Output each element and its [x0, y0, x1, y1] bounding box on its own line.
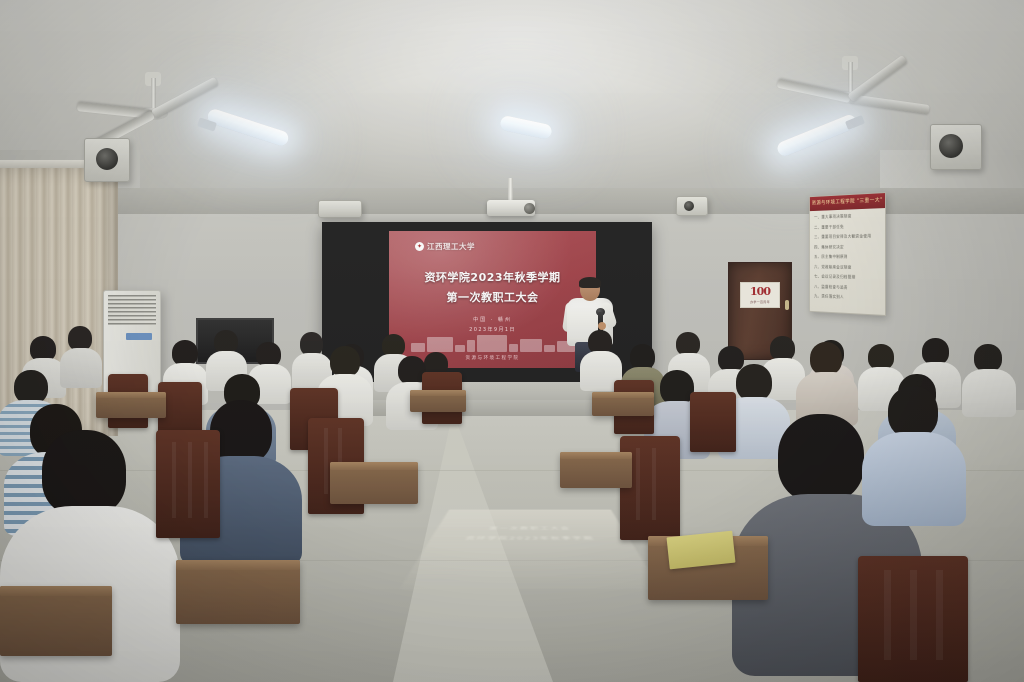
logo-badge-icon: ✦ [415, 242, 424, 251]
speaker-cone [684, 201, 694, 211]
projector-mount-rod [508, 178, 513, 202]
notice-item: 六、党政联席会议制度 [814, 264, 880, 271]
presenter-hair [579, 277, 601, 288]
chair[interactable] [156, 430, 220, 538]
notice-item: 七、会议记录及归档管理 [814, 274, 880, 281]
door-poster-caption: 办学一百周年 [741, 300, 779, 304]
notice-item: 二、重要干部任免 [814, 223, 880, 230]
presenter-hand [598, 322, 606, 330]
university-logo: ✦ 江西理工大学 [415, 241, 475, 252]
notice-board-header: 资源与环境工程学院 "三重一大" [810, 193, 885, 211]
ac-grille-icon [108, 295, 156, 325]
door-poster-number: 100 [741, 283, 779, 300]
notepad[interactable] [667, 531, 736, 570]
wall-notice-board[interactable]: 资源与环境工程学院 "三重一大" 一、重大事项决策制度 二、重要干部任免 三、重… [809, 192, 886, 316]
ac-display-panel [126, 333, 152, 340]
wall-speaker-right [930, 124, 982, 170]
notice-item: 三、重要项目安排及大额资金使用 [814, 233, 880, 240]
notice-item: 九、责任落实到人 [814, 293, 880, 301]
lecture-hall-photo: 第一次教职工大会 资环学院2023年秋季学期 [0, 0, 1024, 682]
chair[interactable] [690, 392, 736, 452]
writing-desk [330, 462, 418, 504]
chair[interactable] [858, 556, 968, 682]
ceiling-light-glow [180, 0, 860, 200]
notice-item: 一、重大事项决策制度 [814, 212, 880, 220]
air-vent-left [318, 200, 362, 218]
writing-desk [592, 392, 654, 416]
projector-lens-icon [524, 203, 535, 214]
door-handle[interactable] [785, 300, 789, 310]
writing-desk [176, 560, 300, 624]
reflection-line-2: 资环学院2023年秋季学期 [429, 535, 630, 541]
notice-item: 八、监督检查与追责 [814, 283, 880, 291]
writing-desk [96, 392, 166, 418]
writing-desk [560, 452, 632, 488]
fan-blade [777, 79, 851, 103]
notice-item: 四、集体研究决定 [814, 244, 880, 250]
notice-board-list: 一、重大事项决策制度 二、重要干部任免 三、重要项目安排及大额资金使用 四、集体… [810, 208, 885, 310]
notice-item: 五、民主集中制原则 [814, 254, 880, 260]
speaker-cone [96, 148, 118, 170]
university-name: 江西理工大学 [427, 241, 475, 252]
fan-blade [849, 94, 929, 114]
writing-desk [410, 390, 466, 412]
door-poster: 100 办学一百周年 [740, 282, 780, 308]
writing-desk [0, 586, 112, 656]
wall-speaker-center [676, 196, 708, 216]
wall-speaker-left [84, 138, 130, 182]
ceiling-fan-right [770, 62, 930, 122]
reflection-line-1: 第一次教职工大会 [436, 525, 624, 530]
speaker-cone [939, 134, 963, 158]
